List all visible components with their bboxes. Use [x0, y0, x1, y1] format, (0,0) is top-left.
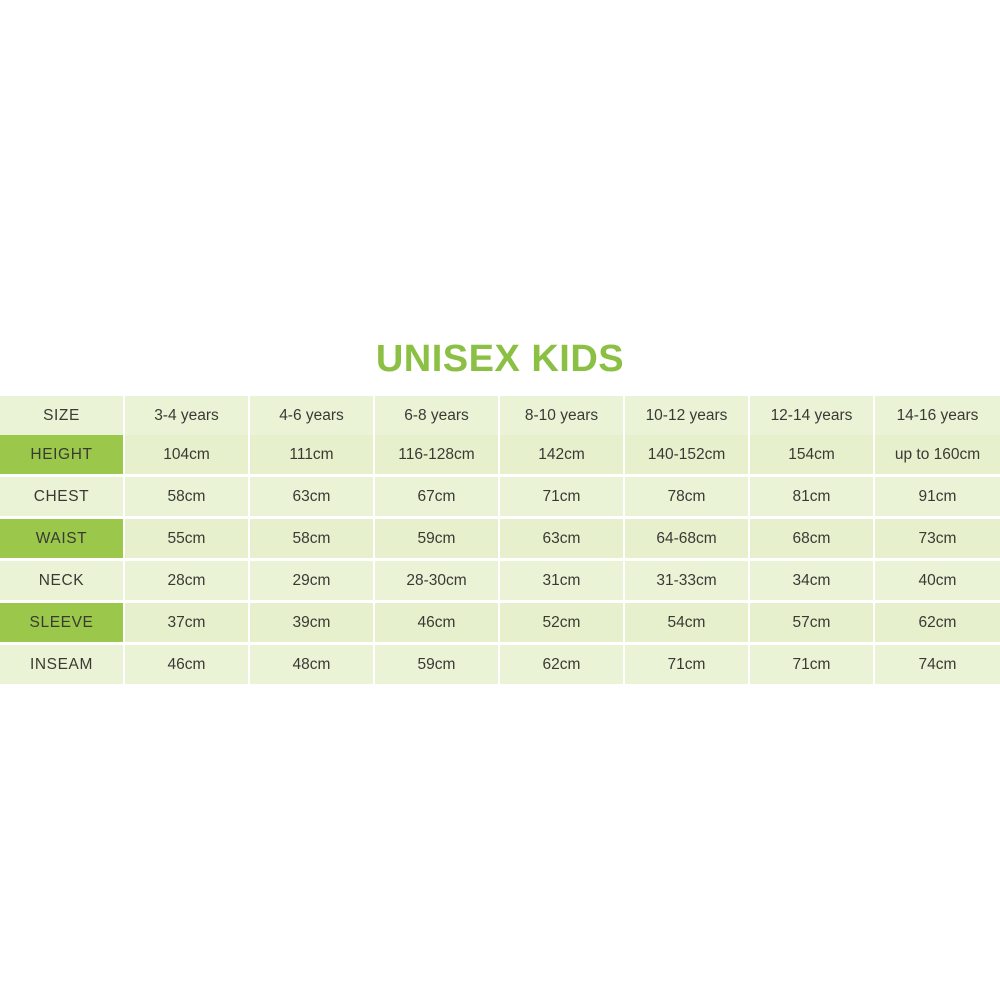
cell-height-3: 142cm	[500, 435, 625, 477]
table-header: SIZE 3-4 years 4-6 years 6-8 years 8-10 …	[0, 396, 1000, 435]
cell-inseam-2: 59cm	[375, 645, 500, 684]
cell-neck-6: 40cm	[875, 561, 1000, 603]
cell-waist-4: 64-68cm	[625, 519, 750, 561]
table-row: SLEEVE 37cm 39cm 46cm 52cm 54cm 57cm 62c…	[0, 603, 1000, 645]
header-cell-1: 4-6 years	[250, 396, 375, 435]
cell-waist-2: 59cm	[375, 519, 500, 561]
table-row: HEIGHT 104cm 111cm 116-128cm 142cm 140-1…	[0, 435, 1000, 477]
cell-height-2: 116-128cm	[375, 435, 500, 477]
cell-neck-4: 31-33cm	[625, 561, 750, 603]
cell-neck-1: 29cm	[250, 561, 375, 603]
size-chart-table: SIZE 3-4 years 4-6 years 6-8 years 8-10 …	[0, 396, 1000, 684]
row-label-chest: CHEST	[0, 477, 125, 519]
header-cell-6: 14-16 years	[875, 396, 1000, 435]
table-row: CHEST 58cm 63cm 67cm 71cm 78cm 81cm 91cm	[0, 477, 1000, 519]
row-label-neck: NECK	[0, 561, 125, 603]
cell-waist-5: 68cm	[750, 519, 875, 561]
table-header-row: SIZE 3-4 years 4-6 years 6-8 years 8-10 …	[0, 396, 1000, 435]
header-cell-0: 3-4 years	[125, 396, 250, 435]
cell-height-6: up to 160cm	[875, 435, 1000, 477]
cell-height-5: 154cm	[750, 435, 875, 477]
cell-inseam-3: 62cm	[500, 645, 625, 684]
size-chart-table-container: SIZE 3-4 years 4-6 years 6-8 years 8-10 …	[0, 396, 1000, 684]
cell-sleeve-3: 52cm	[500, 603, 625, 645]
cell-sleeve-2: 46cm	[375, 603, 500, 645]
cell-chest-5: 81cm	[750, 477, 875, 519]
cell-height-4: 140-152cm	[625, 435, 750, 477]
cell-height-0: 104cm	[125, 435, 250, 477]
cell-inseam-1: 48cm	[250, 645, 375, 684]
row-label-height: HEIGHT	[0, 435, 125, 477]
table-row: WAIST 55cm 58cm 59cm 63cm 64-68cm 68cm 7…	[0, 519, 1000, 561]
cell-waist-1: 58cm	[250, 519, 375, 561]
header-cell-5: 12-14 years	[750, 396, 875, 435]
cell-chest-3: 71cm	[500, 477, 625, 519]
table-row: NECK 28cm 29cm 28-30cm 31cm 31-33cm 34cm…	[0, 561, 1000, 603]
cell-sleeve-1: 39cm	[250, 603, 375, 645]
row-label-inseam: INSEAM	[0, 645, 125, 684]
cell-inseam-0: 46cm	[125, 645, 250, 684]
row-label-sleeve: SLEEVE	[0, 603, 125, 645]
header-label-size: SIZE	[0, 396, 125, 435]
cell-sleeve-5: 57cm	[750, 603, 875, 645]
row-label-waist: WAIST	[0, 519, 125, 561]
cell-neck-2: 28-30cm	[375, 561, 500, 603]
size-chart-page: UNISEX KIDS SIZE 3-4 years 4-6 years 6-8…	[0, 0, 1000, 1000]
cell-neck-0: 28cm	[125, 561, 250, 603]
table-row: INSEAM 46cm 48cm 59cm 62cm 71cm 71cm 74c…	[0, 645, 1000, 684]
cell-neck-3: 31cm	[500, 561, 625, 603]
cell-chest-6: 91cm	[875, 477, 1000, 519]
cell-chest-0: 58cm	[125, 477, 250, 519]
table-body: HEIGHT 104cm 111cm 116-128cm 142cm 140-1…	[0, 435, 1000, 684]
page-title: UNISEX KIDS	[0, 336, 1000, 382]
cell-sleeve-6: 62cm	[875, 603, 1000, 645]
cell-waist-0: 55cm	[125, 519, 250, 561]
cell-chest-2: 67cm	[375, 477, 500, 519]
cell-chest-4: 78cm	[625, 477, 750, 519]
header-cell-3: 8-10 years	[500, 396, 625, 435]
cell-waist-6: 73cm	[875, 519, 1000, 561]
cell-inseam-4: 71cm	[625, 645, 750, 684]
cell-chest-1: 63cm	[250, 477, 375, 519]
cell-neck-5: 34cm	[750, 561, 875, 603]
cell-height-1: 111cm	[250, 435, 375, 477]
header-cell-2: 6-8 years	[375, 396, 500, 435]
cell-waist-3: 63cm	[500, 519, 625, 561]
cell-inseam-5: 71cm	[750, 645, 875, 684]
header-cell-4: 10-12 years	[625, 396, 750, 435]
cell-sleeve-0: 37cm	[125, 603, 250, 645]
cell-sleeve-4: 54cm	[625, 603, 750, 645]
cell-inseam-6: 74cm	[875, 645, 1000, 684]
